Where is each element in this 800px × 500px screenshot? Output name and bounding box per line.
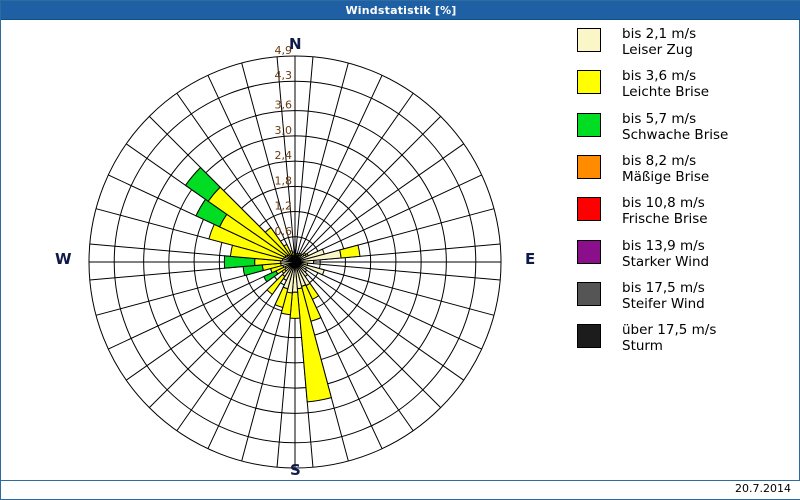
compass-label-east: E	[525, 252, 535, 267]
radial-tick-label: 4,3	[275, 69, 293, 82]
legend-text: bis 13,9 m/sStarker Wind	[622, 239, 709, 271]
legend-color-swatch	[577, 70, 601, 94]
legend-color-swatch	[577, 197, 601, 221]
compass-label-north: N	[289, 37, 302, 52]
legend-color-swatch	[577, 155, 601, 179]
legend: bis 2,1 m/sLeiser Zugbis 3,6 m/sLeichte …	[577, 27, 792, 366]
grid-spoke	[295, 75, 382, 262]
legend-item: bis 17,5 m/sSteifer Wind	[577, 281, 792, 313]
footer-bar: 20.7.2014	[1, 480, 800, 499]
legend-color-swatch	[577, 282, 601, 306]
grid-spoke	[295, 175, 482, 262]
legend-beaufort-name: Mäßige Brise	[622, 170, 709, 186]
wind-statistics-window: Windstatistik [%] 0,61,21,82,43,03,64,34…	[0, 0, 800, 500]
radial-tick-label: 2,4	[275, 149, 293, 162]
legend-text: bis 2,1 m/sLeiser Zug	[622, 27, 696, 59]
radial-tick-label: 3,6	[275, 99, 293, 112]
legend-beaufort-name: Starker Wind	[622, 255, 709, 271]
legend-speed-range: bis 3,6 m/s	[622, 69, 709, 85]
legend-item: über 17,5 m/sSturm	[577, 323, 792, 355]
legend-text: bis 17,5 m/sSteifer Wind	[622, 281, 705, 313]
legend-text: über 17,5 m/sSturm	[622, 323, 716, 355]
compass-label-west: W	[55, 252, 72, 267]
window-titlebar: Windstatistik [%]	[1, 1, 800, 20]
grid-spoke	[295, 262, 494, 315]
windrose-petal-segment	[264, 271, 278, 282]
legend-speed-range: bis 5,7 m/s	[622, 112, 728, 128]
legend-speed-range: bis 13,9 m/s	[622, 239, 709, 255]
legend-item: bis 8,2 m/sMäßige Brise	[577, 154, 792, 186]
radial-tick-label: 0,6	[275, 225, 293, 238]
legend-beaufort-name: Sturm	[622, 339, 716, 355]
legend-color-swatch	[577, 240, 601, 264]
window-title: Windstatistik [%]	[345, 5, 456, 16]
legend-beaufort-name: Steifer Wind	[622, 297, 705, 313]
legend-beaufort-name: Schwache Brise	[622, 128, 728, 144]
radial-tick-label: 1,8	[275, 174, 293, 187]
legend-item: bis 2,1 m/sLeiser Zug	[577, 27, 792, 59]
grid-spoke	[295, 262, 500, 280]
legend-color-swatch	[577, 113, 601, 137]
legend-beaufort-name: Leiser Zug	[622, 43, 696, 59]
legend-text: bis 8,2 m/sMäßige Brise	[622, 154, 709, 186]
legend-item: bis 5,7 m/sSchwache Brise	[577, 112, 792, 144]
grid-spoke	[295, 93, 413, 262]
legend-color-swatch	[577, 28, 601, 52]
radial-tick-label: 1,2	[275, 200, 293, 213]
legend-item: bis 10,8 m/sFrische Brise	[577, 196, 792, 228]
radial-tick-label: 3,0	[275, 124, 293, 137]
legend-speed-range: bis 17,5 m/s	[622, 281, 705, 297]
grid-spoke	[295, 262, 482, 349]
legend-speed-range: bis 8,2 m/s	[622, 154, 709, 170]
radial-tick-labels: 0,61,21,82,43,03,64,34,9	[275, 44, 293, 238]
legend-speed-range: bis 2,1 m/s	[622, 27, 696, 43]
date-label: 20.7.2014	[735, 482, 791, 495]
grid-spoke	[295, 144, 464, 262]
grid-spoke	[295, 57, 313, 262]
legend-beaufort-name: Leichte Brise	[622, 85, 709, 101]
compass-label-south: S	[290, 463, 301, 478]
legend-text: bis 10,8 m/sFrische Brise	[622, 196, 708, 228]
legend-speed-range: bis 10,8 m/s	[622, 196, 708, 212]
legend-color-swatch	[577, 324, 601, 348]
legend-text: bis 3,6 m/sLeichte Brise	[622, 69, 709, 101]
legend-item: bis 3,6 m/sLeichte Brise	[577, 69, 792, 101]
legend-speed-range: über 17,5 m/s	[622, 323, 716, 339]
grid-spoke	[295, 63, 348, 262]
legend-text: bis 5,7 m/sSchwache Brise	[622, 112, 728, 144]
legend-beaufort-name: Frische Brise	[622, 212, 708, 228]
legend-item: bis 13,9 m/sStarker Wind	[577, 239, 792, 271]
